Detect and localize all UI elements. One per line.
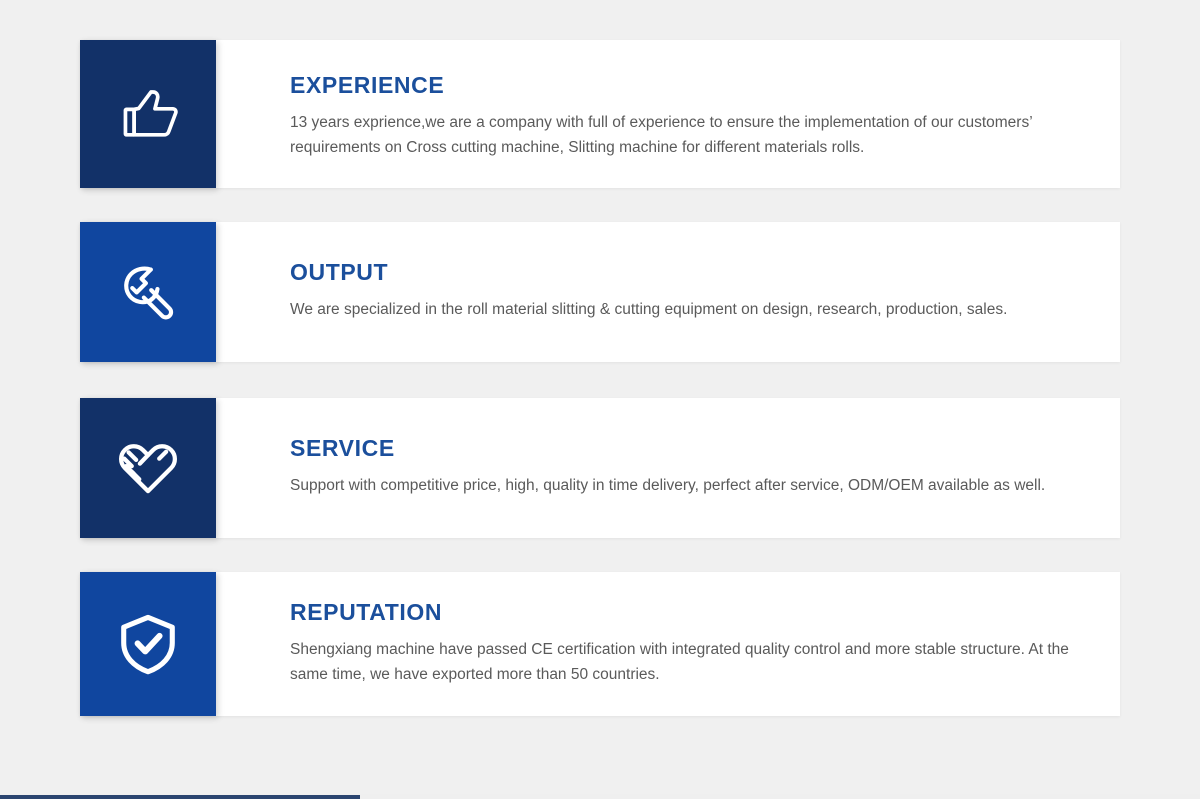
card-body-experience: EXPERIENCE 13 years exprience,we are a c… <box>216 40 1120 188</box>
card-body-reputation: REPUTATION Shengxiang machine have passe… <box>216 572 1120 716</box>
thumbs-up-icon <box>111 77 185 151</box>
card-title: OUTPUT <box>290 261 1080 284</box>
shield-check-icon <box>111 607 185 681</box>
icon-box-experience <box>80 40 216 188</box>
horizontal-scrollbar-track[interactable] <box>0 794 1200 799</box>
icon-box-output <box>80 222 216 362</box>
feature-card-reputation[interactable]: REPUTATION Shengxiang machine have passe… <box>80 572 1120 716</box>
card-title: EXPERIENCE <box>290 74 1080 97</box>
horizontal-scrollbar-thumb[interactable] <box>0 795 360 799</box>
card-body-output: OUTPUT We are specialized in the roll ma… <box>216 222 1120 362</box>
icon-box-service <box>80 398 216 538</box>
handshake-heart-icon <box>108 428 188 508</box>
feature-card-service[interactable]: SERVICE Support with competitive price, … <box>80 398 1120 538</box>
card-description: We are specialized in the roll material … <box>290 298 1080 322</box>
card-description: 13 years exprience,we are a company with… <box>290 111 1080 159</box>
card-title: REPUTATION <box>290 601 1080 624</box>
card-description: Support with competitive price, high, qu… <box>290 474 1080 498</box>
feature-card-experience[interactable]: EXPERIENCE 13 years exprience,we are a c… <box>80 40 1120 188</box>
icon-box-reputation <box>80 572 216 716</box>
wrench-icon <box>111 255 185 329</box>
card-body-service: SERVICE Support with competitive price, … <box>216 398 1120 538</box>
card-title: SERVICE <box>290 437 1080 460</box>
feature-card-output[interactable]: OUTPUT We are specialized in the roll ma… <box>80 222 1120 362</box>
card-description: Shengxiang machine have passed CE certif… <box>290 638 1080 686</box>
